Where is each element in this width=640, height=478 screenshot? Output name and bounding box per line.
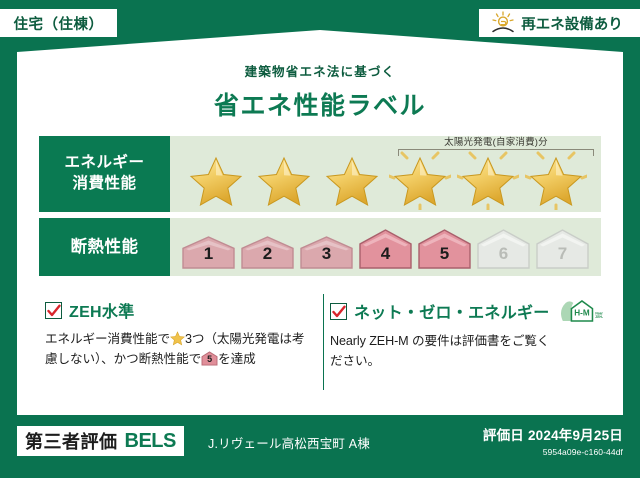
insulation-performance-row: 断熱性能 1 2 3 4 5 [39,218,601,276]
zeh-desc-part2: 3つ（太陽光発電 [185,332,279,346]
insulation-level-number: 2 [240,244,295,264]
net-zero-energy-column: ネット・ゼロ・エネルギー H-M Nearly ZEH-M Nearly ZEH… [330,298,597,372]
star-icon [170,331,185,346]
zeh-standard-description: エネルギー消費性能で3つ（太陽光発電は考慮しない）、かつ断熱性能で5を達成 [45,329,312,370]
sun-solar-icon [490,11,516,35]
housing-type-tag: 住宅（住棟） [0,9,117,37]
evaluation-info: 評価日 2024年9月25日 5954a09e-c160-44df [483,424,623,457]
insulation-level-number: 7 [535,244,590,264]
title-subtitle: 建築物省エネ法に基づく [17,61,623,80]
star-5 [457,148,519,208]
insulation-level-badge-number: 5 [201,351,218,366]
nze-desc-part2: ださい。 [330,354,380,368]
zeh-desc-part4: を達成 [218,352,255,366]
insulation-level-2: 2 [240,235,295,270]
evaluation-date: 評価日 2024年9月25日 [483,424,623,444]
red-check-icon [330,303,347,320]
column-divider [323,294,324,390]
insulation-performance-body: 1 2 3 4 5 6 7 [170,218,601,276]
insulation-level-number: 4 [358,244,413,264]
rating-rows: エネルギー 消費性能 太陽光発電(自家消費)分 [39,136,601,276]
evaluation-id: 5954a09e-c160-44df [483,447,623,457]
star-6 [525,148,587,208]
insulation-level-1: 1 [181,235,236,270]
insulation-level-7: 7 [535,228,590,270]
title-main: 省エネ性能ラベル [17,86,623,122]
bels-certification-box: 第三者評価 BELS [17,426,184,456]
net-zero-energy-title: ネット・ゼロ・エネルギー [354,299,550,323]
zeh-desc-part1: エネルギー消費性能で [45,332,170,346]
insulation-level-number: 6 [476,244,531,264]
star-rating [170,136,601,212]
label-title: 建築物省エネ法に基づく 省エネ性能ラベル [17,61,623,122]
label-footer: 第三者評価 BELS J.リヴェール高松西宝町 A棟 評価日 2024年9月25… [0,415,640,478]
net-zero-energy-description: Nearly ZEH-M の要件は評価書をご覧く ださい。 [330,331,597,372]
energy-performance-body: 太陽光発電(自家消費)分 [170,136,601,212]
zeh-standard-column: ZEH水準 エネルギー消費性能で3つ（太陽光発電は考慮しない）、かつ断熱性能で5… [45,298,312,372]
nze-desc-part1: Nearly ZEH-M の要件は評価書をご覧く [330,334,549,348]
insulation-level-4: 4 [358,228,413,270]
insulation-performance-label: 断熱性能 [39,218,170,276]
star-1 [185,148,247,208]
zeh-m-logo-sub2: ZEH-M [595,315,603,319]
zeh-m-logo-main-text: H-M [574,308,590,317]
zeh-standard-heading: ZEH水準 [45,298,312,322]
zeh-standard-title: ZEH水準 [69,298,135,322]
insulation-level-5: 5 [417,228,472,270]
energy-performance-row: エネルギー 消費性能 太陽光発電(自家消費)分 [39,136,601,212]
insulation-level-6: 6 [476,228,531,270]
label-panel: 建築物省エネ法に基づく 省エネ性能ラベル エネルギー 消費性能 太陽光発電(自家… [17,30,623,415]
star-3 [321,148,383,208]
star-4 [389,148,451,208]
insulation-level-number: 5 [417,244,472,264]
energy-performance-label: エネルギー 消費性能 [39,136,170,212]
zeh-m-house-logo: H-M Nearly ZEH-M [559,298,603,324]
insulation-level-scale: 1 2 3 4 5 6 7 [170,218,601,276]
insulation-level-3: 3 [299,235,354,270]
renewable-equipment-label: 再エネ設備あり [521,13,623,34]
housing-type-label: 住宅（住棟） [14,13,104,34]
star-2 [253,148,315,208]
net-zero-energy-heading: ネット・ゼロ・エネルギー H-M Nearly ZEH-M [330,298,597,324]
insulation-level-number: 1 [181,244,236,264]
insulation-level-badge-icon: 5 [201,351,218,366]
bels-jp-label: 第三者評価 [25,428,118,454]
insulation-level-number: 3 [299,244,354,264]
red-check-icon [45,302,62,319]
property-name: J.リヴェール高松西宝町 A棟 [208,433,370,452]
criteria-columns: ZEH水準 エネルギー消費性能で3つ（太陽光発電は考慮しない）、かつ断熱性能で5… [45,298,597,372]
bels-en-label: BELS [125,430,176,453]
renewable-equipment-tag: 再エネ設備あり [479,9,640,37]
